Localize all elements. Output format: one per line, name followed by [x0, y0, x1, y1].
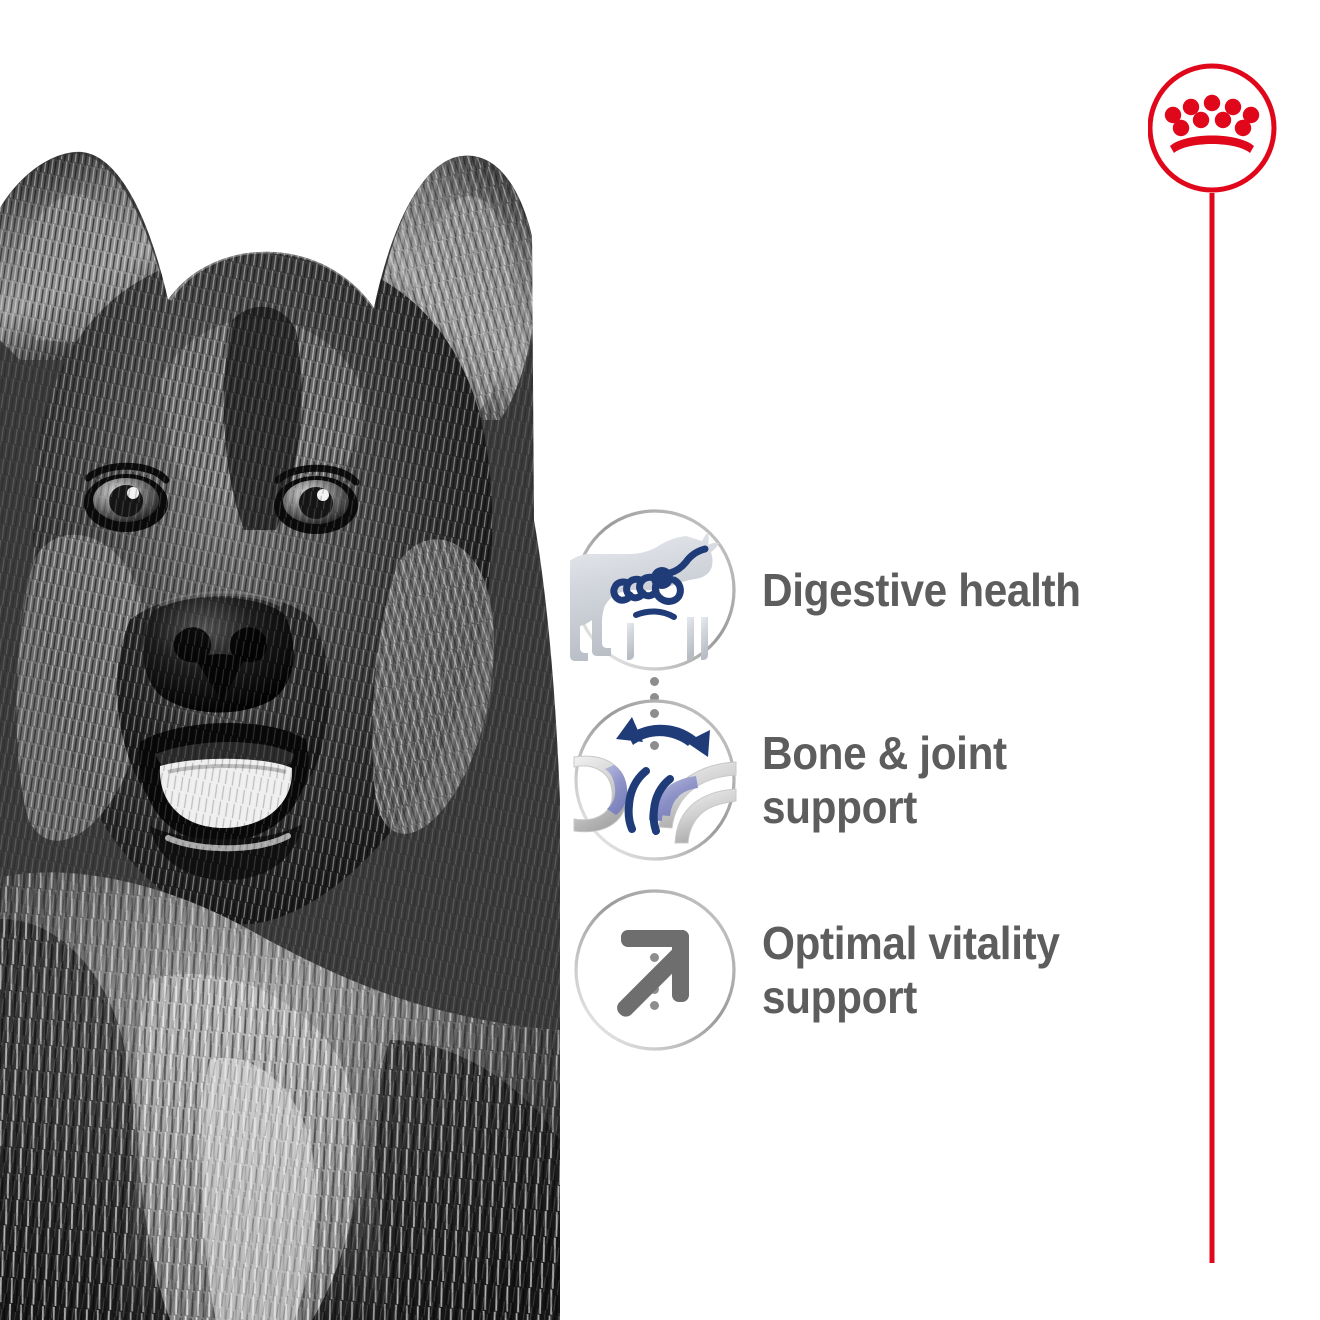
benefit-icon-wrap	[560, 875, 750, 1065]
benefit-icon-wrap	[560, 495, 750, 685]
benefit-item-bone-joint-support: Bone & joint support	[560, 685, 1160, 875]
benefit-label-digestive-health: Digestive health	[762, 563, 1081, 617]
benefit-label-optimal-vitality-support: Optimal vitality support	[762, 916, 1059, 1025]
benefit-item-optimal-vitality-support: Optimal vitality support	[560, 875, 1160, 1065]
joint-cartilage-arrows-icon	[570, 695, 740, 865]
product-benefits-panel: Digestive health	[0, 0, 1320, 1320]
benefits-list: Digestive health	[560, 495, 1160, 1065]
royal-canin-logo	[1148, 58, 1278, 1268]
dog-digestive-tract-icon	[570, 505, 740, 675]
dog-photo	[0, 0, 560, 1320]
benefit-item-digestive-health: Digestive health	[560, 495, 1160, 685]
benefit-icon-wrap	[560, 685, 750, 875]
benefit-label-bone-joint-support: Bone & joint support	[762, 726, 1007, 835]
arrow-up-right-icon	[570, 885, 740, 1055]
